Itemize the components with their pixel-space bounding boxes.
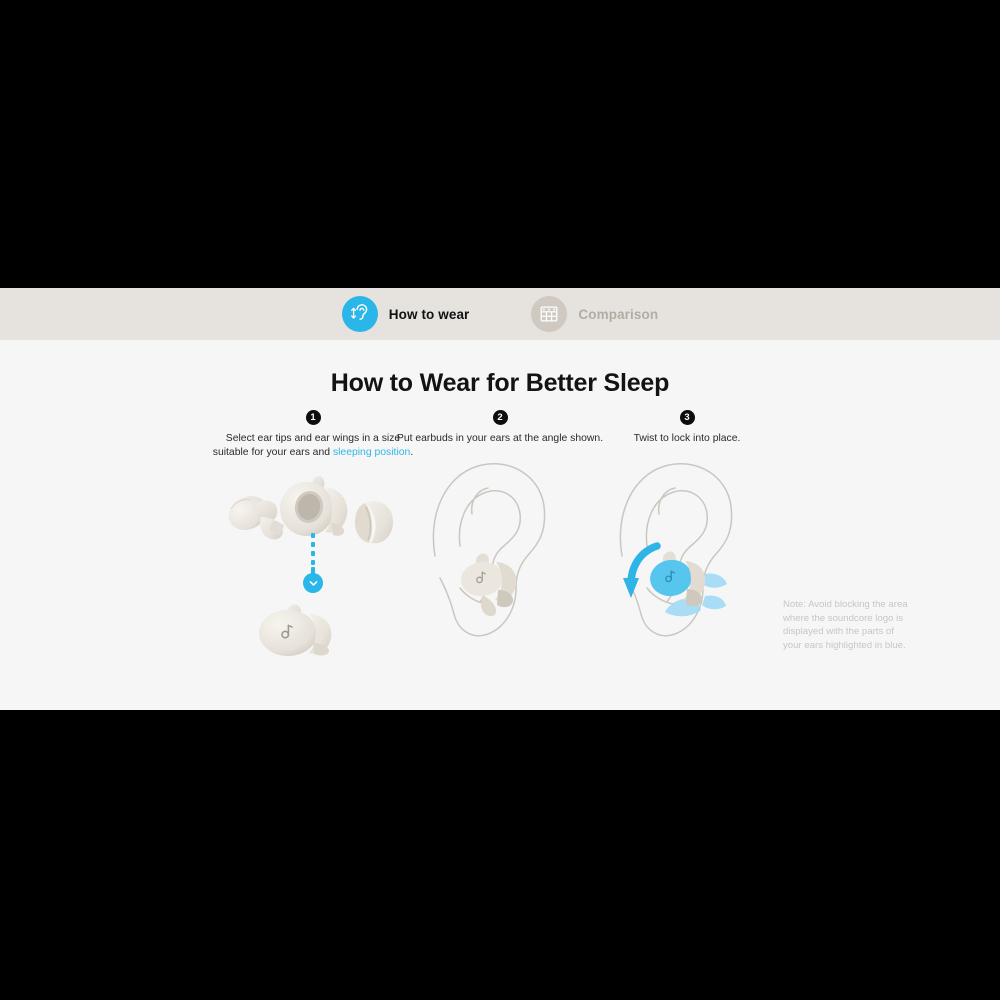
step-badge-3: 3	[680, 410, 695, 425]
letterbox-top	[0, 0, 1000, 288]
ear-tip-part	[355, 501, 393, 543]
tab-comparison[interactable]: Comparison	[531, 296, 658, 332]
page-root: How to wear Comparison How to Wear for B…	[0, 0, 1000, 1000]
step-badge-2: 2	[493, 410, 508, 425]
earbud-with-wing-part	[280, 476, 347, 536]
step-item-2: 2 Put earbuds in your ears at the angle …	[395, 410, 605, 658]
illustration-ear-twist	[587, 448, 787, 658]
page-title: How to Wear for Better Sleep	[0, 369, 1000, 398]
earbud-in-ear	[459, 553, 516, 616]
step-text-1: Select ear tips and ear wings in a size …	[208, 432, 418, 459]
letterbox-bottom	[0, 710, 1000, 1000]
steps-container: 1 Select ear tips and ear wings in a siz…	[190, 410, 810, 690]
down-arrow-icon	[303, 573, 323, 593]
illustration-earbud-parts	[213, 465, 413, 660]
step-item-3: 3 Twist to lock into place.	[582, 410, 792, 658]
illustration-ear-with-earbud	[400, 448, 600, 658]
tab-bar: How to wear Comparison	[0, 288, 1000, 340]
main-content: How to Wear for Better Sleep 1 Select ea…	[0, 340, 1000, 710]
earbud-body-part	[223, 490, 285, 540]
tab-label-how-to-wear: How to wear	[389, 307, 470, 322]
step-text-3: Twist to lock into place.	[582, 432, 792, 446]
assembled-earbud	[213, 597, 413, 659]
earbud-in-ear-blue	[648, 551, 706, 606]
dotted-connector	[311, 533, 315, 573]
tab-label-comparison: Comparison	[578, 307, 658, 322]
step-item-1: 1 Select ear tips and ear wings in a siz…	[208, 410, 418, 660]
table-grid-icon	[531, 296, 567, 332]
ear-icon	[342, 296, 378, 332]
tab-how-to-wear[interactable]: How to wear	[342, 296, 470, 332]
step-badge-1: 1	[306, 410, 321, 425]
step-text-2: Put earbuds in your ears at the angle sh…	[395, 432, 605, 446]
note-text: Note: Avoid blocking the area where the …	[783, 598, 911, 652]
